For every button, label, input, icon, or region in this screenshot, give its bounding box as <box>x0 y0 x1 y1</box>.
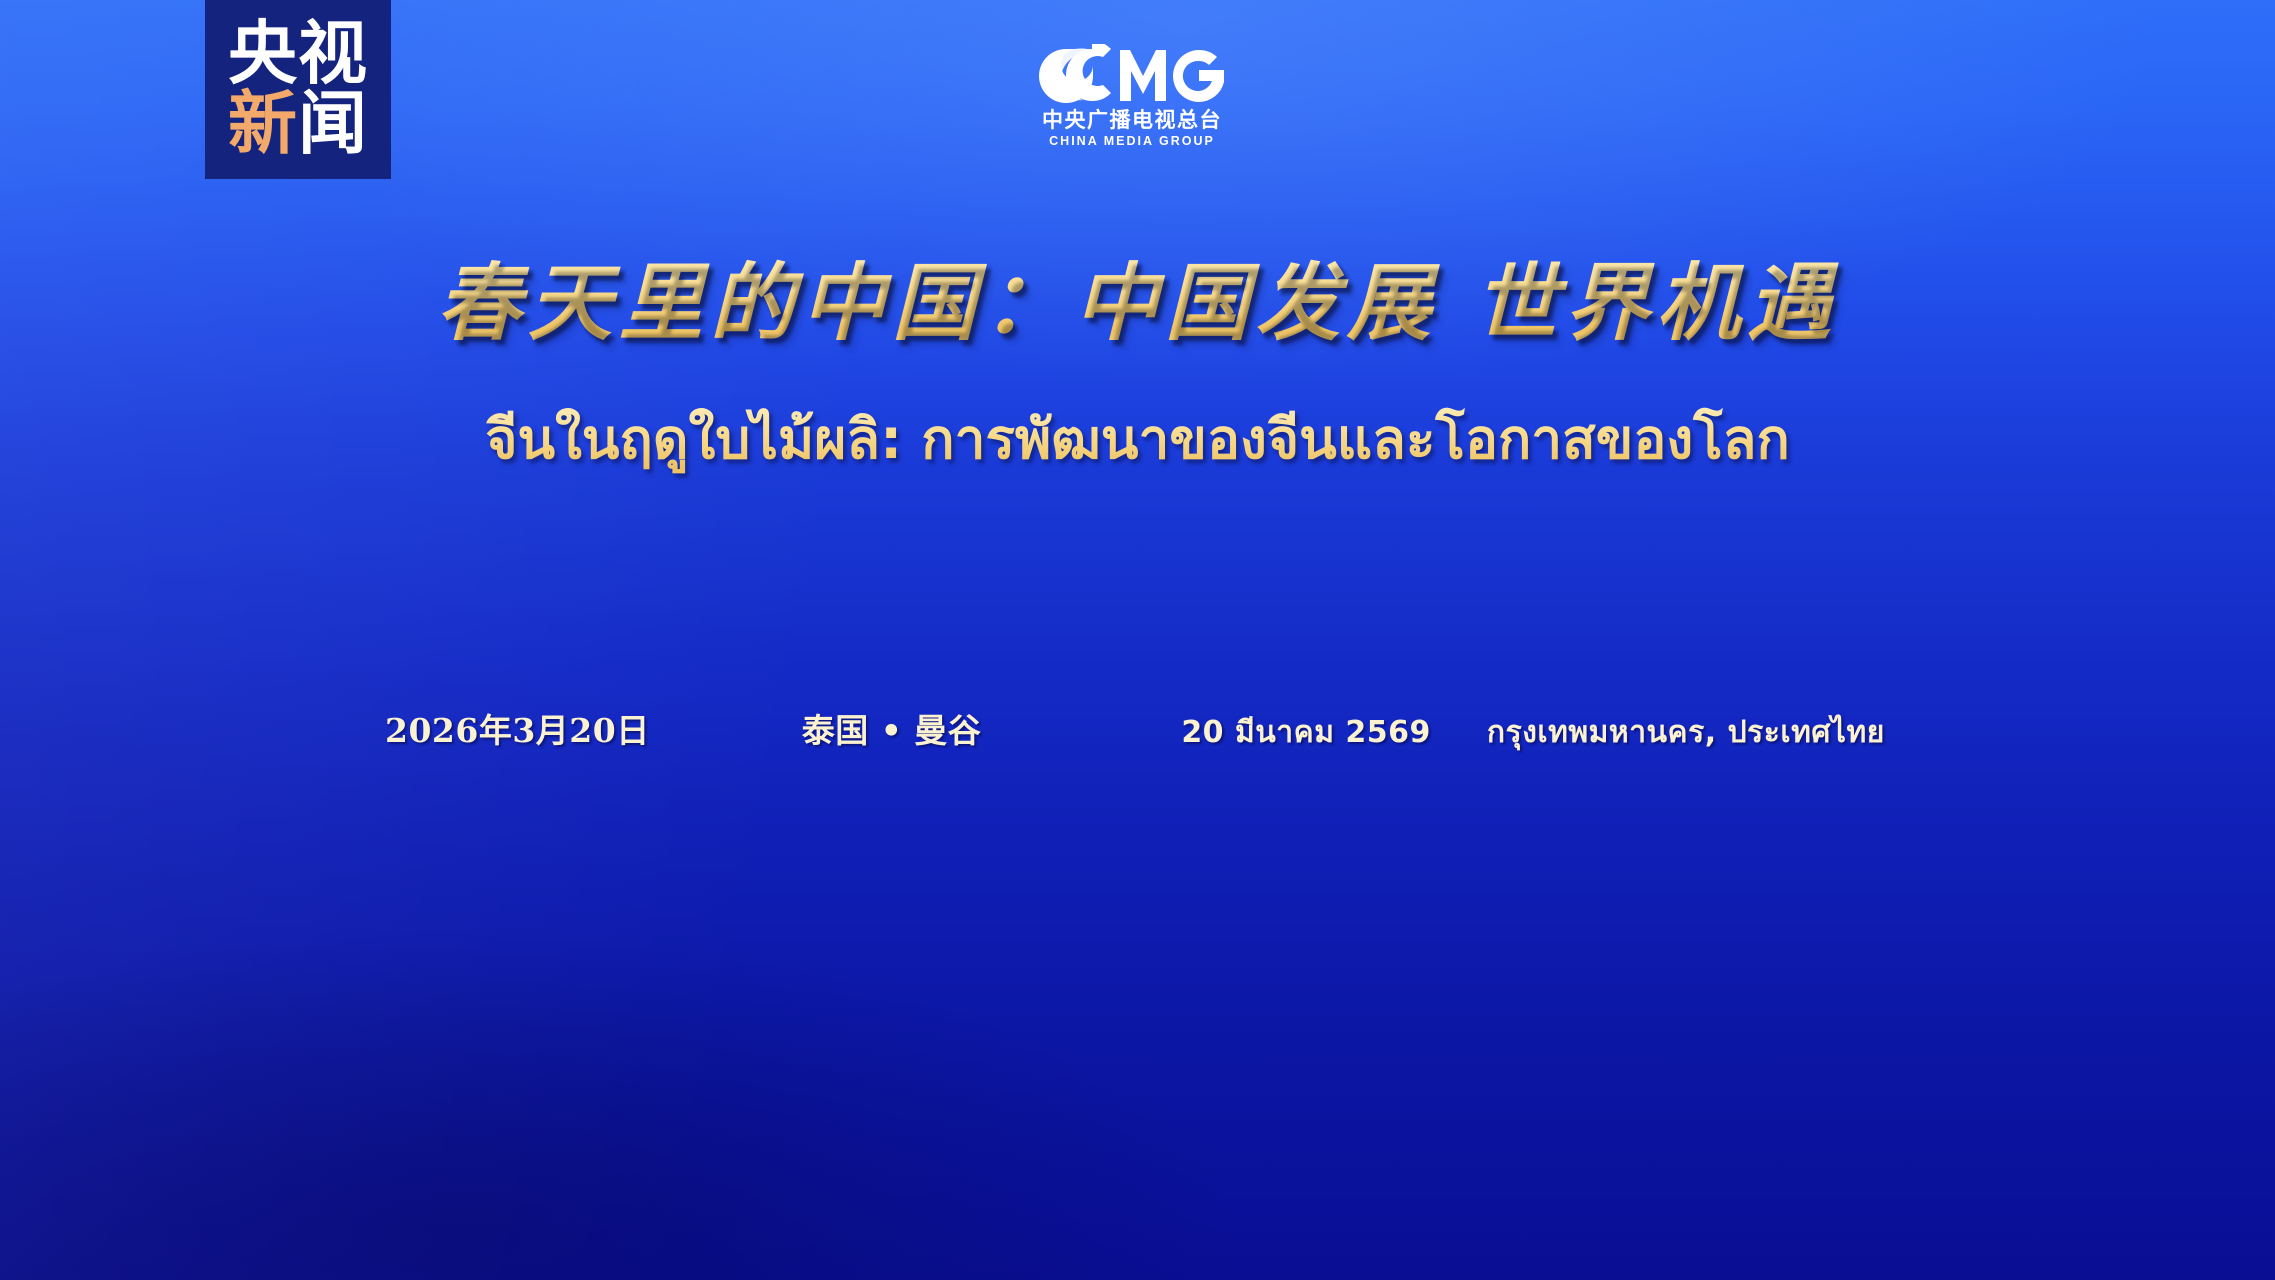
event-info-line: 2026年3月20日 泰国 • 曼谷 20 มีนาคม 2569 กรุงเท… <box>385 704 1885 756</box>
page-title-chinese: 春天里的中国：中国发展 世界机遇 <box>0 236 2275 357</box>
cctv-glyph-wen: 闻 <box>298 92 368 158</box>
cctv-glyph-yang: 央 <box>228 22 298 88</box>
cctv-logo-line-2: 新 闻 <box>228 92 368 158</box>
cmg-english-name: CHINA MEDIA GROUP <box>1032 133 1232 151</box>
cmg-wordmark-icon <box>1032 44 1232 106</box>
event-date-thai: 20 มีนาคม 2569 <box>1181 709 1431 756</box>
cctv-glyph-xin: 新 <box>228 92 298 158</box>
cmg-chinese-name: 中央广播电视总台 <box>1032 108 1232 133</box>
event-location-thai: กรุงเทพมหานคร, ประเทศไทย <box>1487 709 1885 756</box>
cctv-logo-line-1: 央 视 <box>228 22 368 88</box>
broadcast-title-card: 央 视 新 闻 中央广播电视总台 CHINA MEDIA GROUP <box>0 0 2275 1280</box>
cctv-news-logo: 央 视 新 闻 <box>205 0 391 179</box>
cmg-logo: 中央广播电视总台 CHINA MEDIA GROUP <box>1032 44 1232 151</box>
page-subtitle-thai: จีนในฤดูใบไม้ผลิ: การพัฒนาของจีนและโอกาส… <box>0 396 2275 483</box>
event-date-chinese: 2026年3月20日 <box>385 704 650 752</box>
cctv-glyph-shi: 视 <box>298 22 368 88</box>
event-location-chinese: 泰国 • 曼谷 <box>802 704 982 752</box>
